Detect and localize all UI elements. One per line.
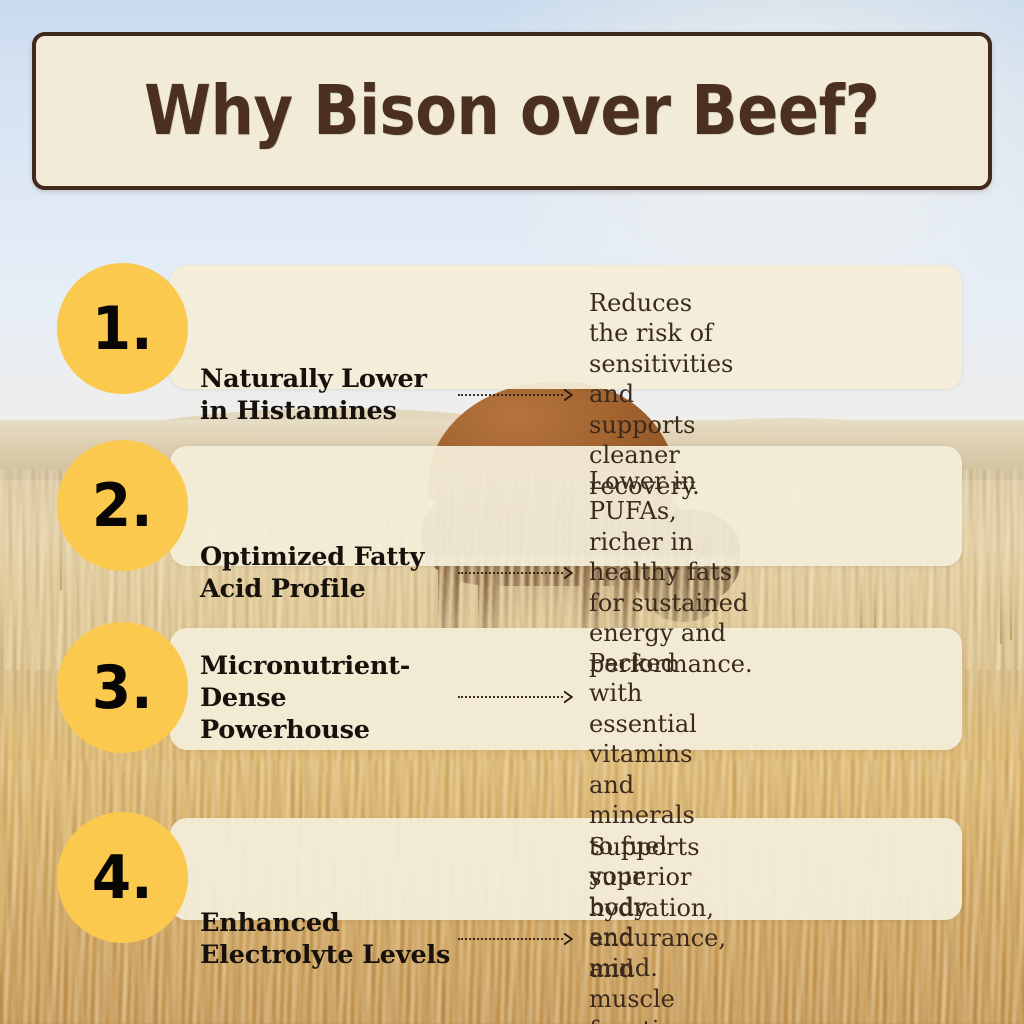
badge-number: 3. xyxy=(92,658,153,718)
dotted-arrow-icon xyxy=(458,388,573,402)
arrow-line xyxy=(458,394,563,396)
arrow-line xyxy=(458,696,563,698)
infographic-canvas: Why Bison over Beef? 1. Naturally Lower … xyxy=(0,0,1024,1024)
benefit-headline: Enhanced Electrolyte Levels xyxy=(200,907,458,971)
benefit-headline: Micronutrient-Dense Powerhouse xyxy=(200,650,458,746)
arrow-head-icon xyxy=(564,933,573,945)
title-card: Why Bison over Beef? xyxy=(32,32,992,190)
benefit-card xyxy=(170,818,962,920)
badge-number: 1. xyxy=(92,299,153,359)
dotted-arrow-icon xyxy=(458,932,573,946)
grass-stalk xyxy=(1010,570,1012,640)
benefit-description: Supports superior hydration, endurance, … xyxy=(573,832,726,1024)
badge-number: 2. xyxy=(92,476,153,536)
arrow-head-icon xyxy=(564,389,573,401)
number-badge: 1. xyxy=(57,263,188,394)
arrow-line xyxy=(458,572,563,574)
grass-stalk xyxy=(1000,558,1002,644)
dotted-arrow-icon xyxy=(458,566,573,580)
number-badge: 4. xyxy=(57,812,188,943)
number-badge: 3. xyxy=(57,622,188,753)
arrow-head-icon xyxy=(564,691,573,703)
badge-number: 4. xyxy=(92,848,153,908)
page-title: Why Bison over Beef? xyxy=(144,71,879,151)
arrow-head-icon xyxy=(564,567,573,579)
benefit-headline: Naturally Lower in Histamines xyxy=(200,363,458,427)
benefit-headline: Optimized Fatty Acid Profile xyxy=(200,541,458,605)
dotted-arrow-icon xyxy=(458,690,573,704)
number-badge: 2. xyxy=(57,440,188,571)
arrow-line xyxy=(458,938,563,940)
